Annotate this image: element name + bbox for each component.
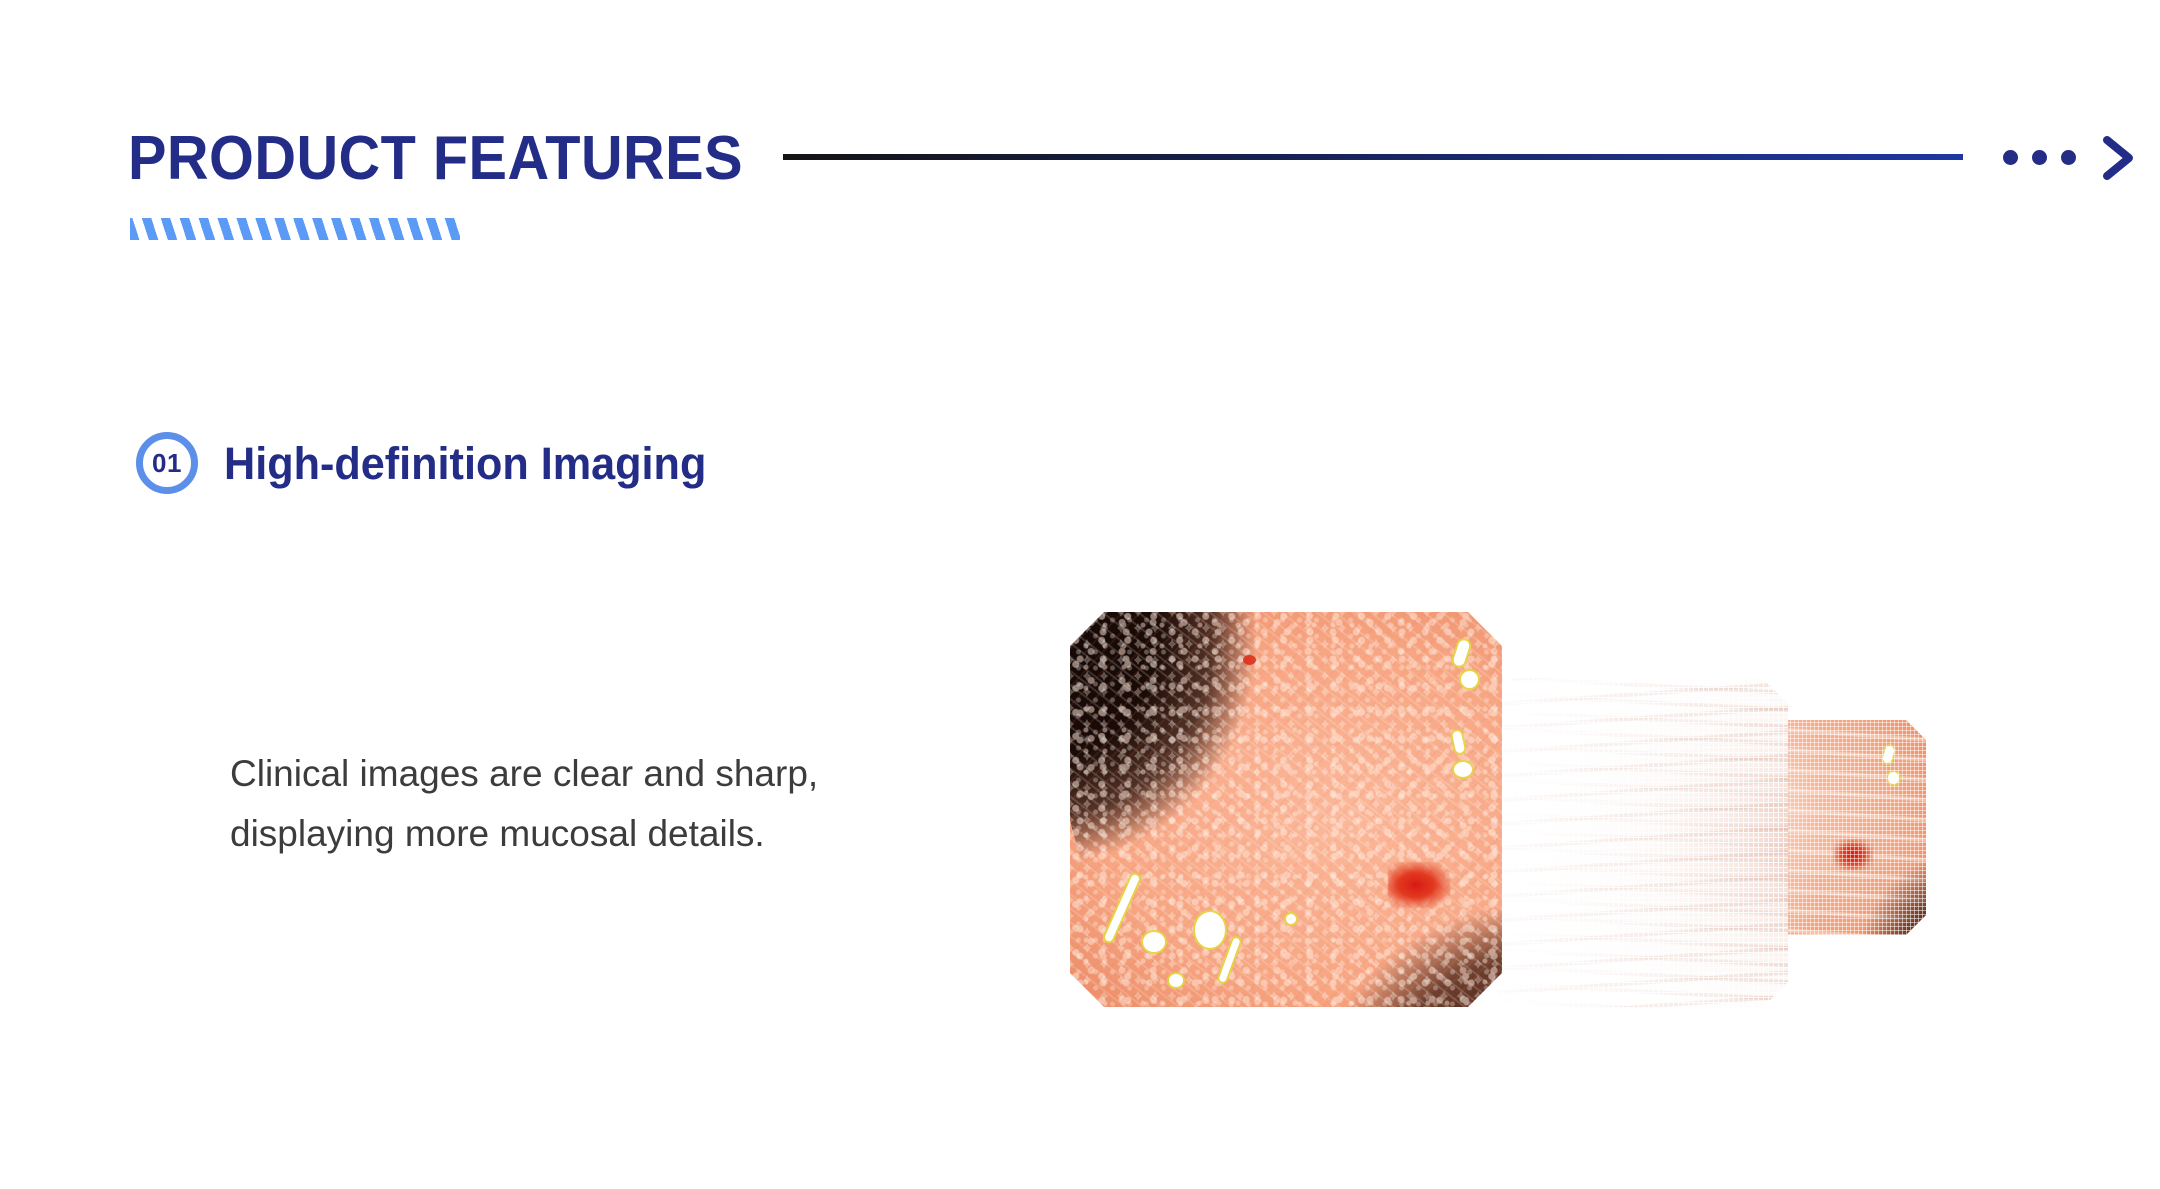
fade-white-wash <box>1488 678 1788 1008</box>
header-divider-line <box>783 154 1963 160</box>
dot-2 <box>2032 150 2047 165</box>
page-title: PRODUCT FEATURES <box>128 128 743 190</box>
hatched-underline-decoration <box>130 218 460 240</box>
feature-number-badge: 01 <box>136 432 198 494</box>
specular-highlight-4 <box>1454 762 1472 777</box>
dot-3 <box>2061 150 2076 165</box>
feature-description-line-2: displaying more mucosal details. <box>230 804 910 864</box>
feature-description-line-1: Clinical images are clear and sharp, <box>230 744 910 804</box>
bleeding-spot <box>1388 862 1450 908</box>
feature-title: High-definition Imaging <box>224 441 706 486</box>
feature-description: Clinical images are clear and sharp, dis… <box>230 744 910 864</box>
chevron-right-icon[interactable] <box>2088 130 2144 191</box>
high-definition-endoscopic-image <box>1070 612 1502 1007</box>
specular-highlight-7 <box>1195 912 1225 948</box>
feature-number-label: 01 <box>152 450 182 476</box>
ellipsis-dots-icon <box>2003 148 2076 166</box>
endoscopic-image-composition <box>1030 590 1930 1050</box>
specular-highlight-10 <box>1286 914 1296 924</box>
feature-heading-row: 01 High-definition Imaging <box>136 432 726 494</box>
specular-highlight-6 <box>1143 932 1165 952</box>
dot-1 <box>2003 150 2018 165</box>
feature-block: 01 High-definition Imaging Clinical imag… <box>136 432 726 494</box>
slide-header: PRODUCT FEATURES <box>128 128 2070 238</box>
mucosal-fold-lines <box>1070 612 1502 1007</box>
slide-root: PRODUCT FEATURES 01 High-definition Imag… <box>0 0 2160 1189</box>
resolution-fade-transition <box>1488 678 1788 1008</box>
